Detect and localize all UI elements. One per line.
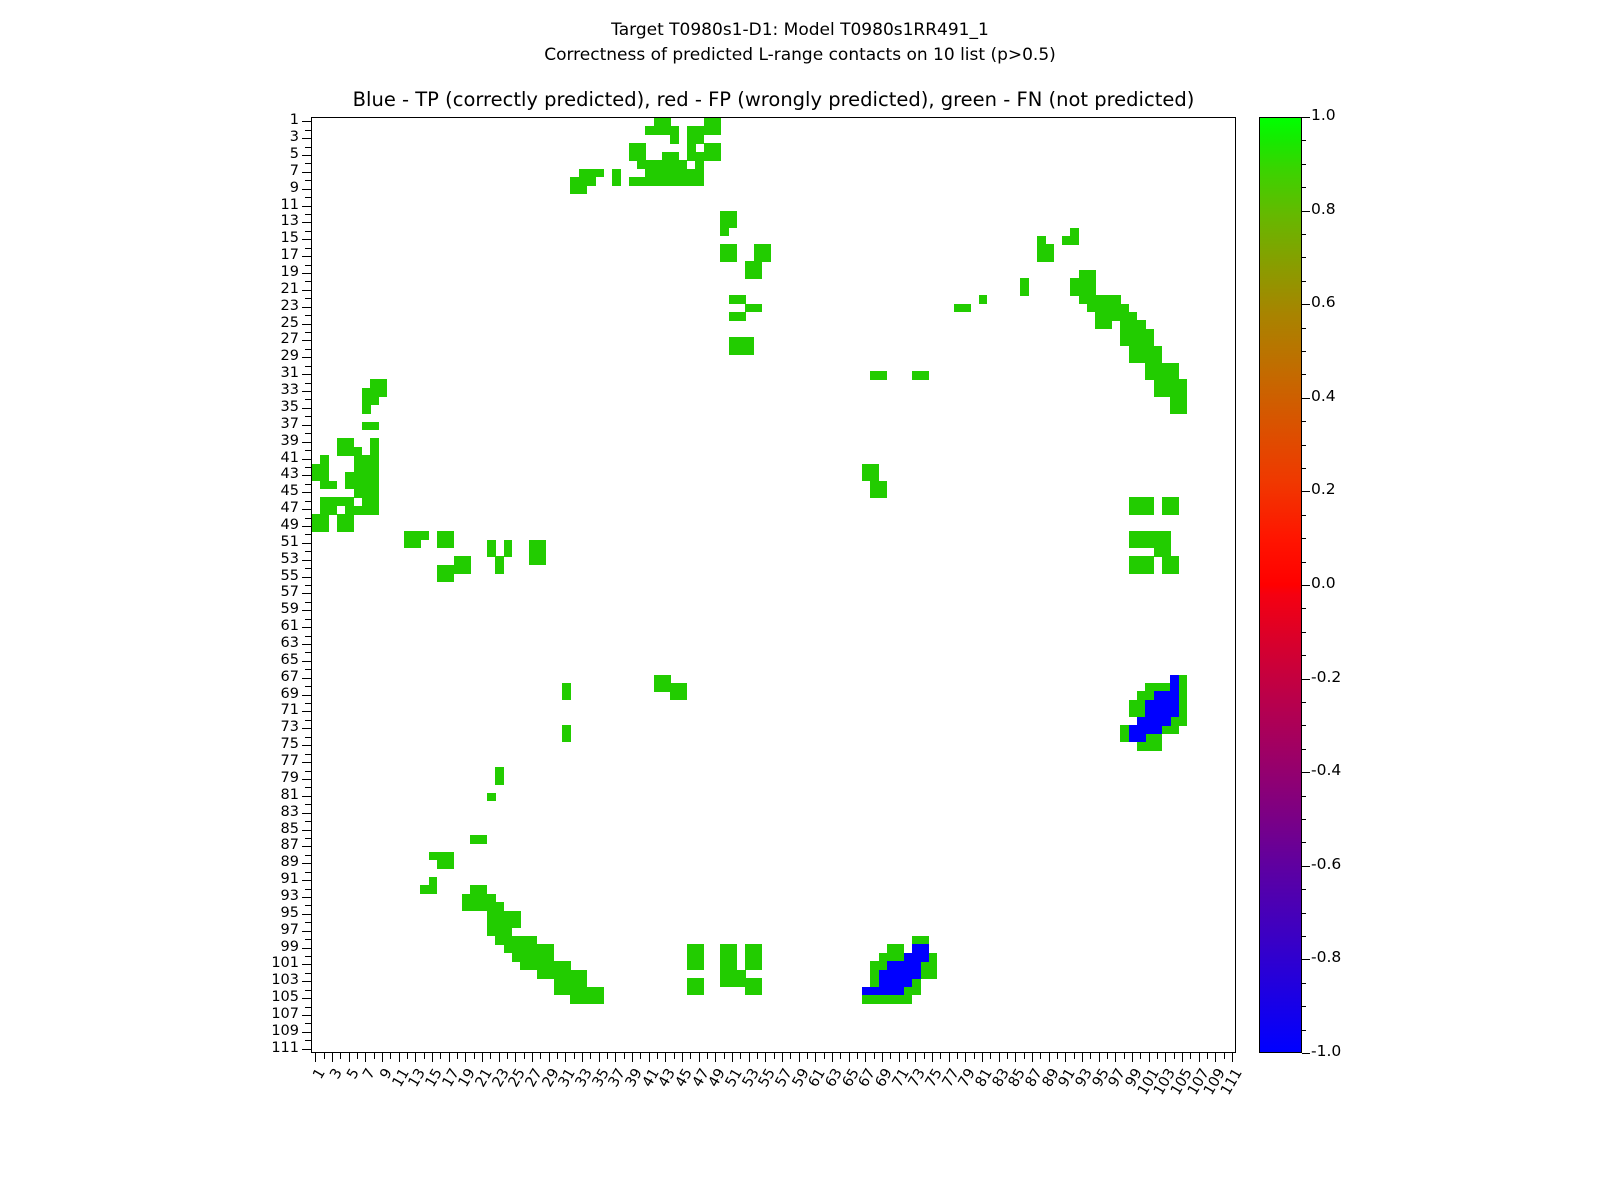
- contact-cell-fn: [412, 540, 421, 549]
- y-tick: [305, 180, 311, 181]
- contact-cell-fn: [879, 371, 888, 380]
- contact-cell-fn: [929, 953, 938, 962]
- x-tick: [682, 1053, 683, 1062]
- x-tick: [907, 1053, 908, 1059]
- y-tick: [302, 880, 311, 881]
- contact-cell-fn: [445, 860, 454, 869]
- colorbar-tick-label: -0.8: [1311, 950, 1341, 965]
- x-tick: [499, 1053, 500, 1062]
- y-tick-label: 19: [281, 265, 299, 279]
- x-tick: [715, 1053, 716, 1062]
- x-tick: [482, 1053, 483, 1062]
- colorbar-minor-tick: [1302, 749, 1306, 750]
- colorbar-minor-tick: [1302, 538, 1306, 539]
- contact-cell-fn: [370, 481, 379, 490]
- contact-cell-fn: [562, 734, 571, 743]
- y-tick: [302, 509, 311, 510]
- y-tick-label: 33: [281, 383, 299, 397]
- y-tick: [305, 298, 311, 299]
- y-tick: [302, 711, 311, 712]
- contact-cell-fn: [870, 995, 879, 1004]
- contact-cell-fn: [479, 835, 488, 844]
- y-tick-label: 47: [281, 501, 299, 515]
- contact-cell-fn: [329, 497, 338, 506]
- y-tick: [305, 686, 311, 687]
- x-tick: [1024, 1053, 1025, 1059]
- colorbar-minor-tick: [1302, 1006, 1306, 1007]
- colorbar-minor-tick: [1302, 702, 1306, 703]
- y-tick-label: 53: [281, 552, 299, 566]
- contact-map-plot-area[interactable]: [311, 117, 1236, 1053]
- colorbar-minor-tick: [1302, 234, 1306, 235]
- contact-cell-fn: [670, 177, 679, 186]
- y-tick: [302, 610, 311, 611]
- y-tick-label: 95: [281, 906, 299, 920]
- contact-cell-fn: [1020, 278, 1029, 287]
- y-tick: [305, 619, 311, 620]
- x-tick: [1065, 1053, 1066, 1062]
- x-tick: [507, 1053, 508, 1059]
- colorbar-tick-label: 1.0: [1311, 108, 1336, 123]
- y-tick: [305, 737, 311, 738]
- x-tick: [865, 1053, 866, 1062]
- y-tick: [305, 484, 311, 485]
- y-tick: [305, 197, 311, 198]
- x-tick: [524, 1053, 525, 1059]
- y-tick: [302, 425, 311, 426]
- contact-cell-fn: [670, 135, 679, 144]
- y-tick: [302, 206, 311, 207]
- y-tick: [302, 762, 311, 763]
- y-tick: [305, 771, 311, 772]
- y-tick-label: 25: [281, 316, 299, 330]
- y-tick: [305, 636, 311, 637]
- contact-cell-fn: [362, 405, 371, 414]
- colorbar-tick-label: 0.0: [1311, 576, 1336, 591]
- colorbar-minor-tick: [1302, 655, 1306, 656]
- x-tick: [1132, 1053, 1133, 1062]
- x-tick: [732, 1053, 733, 1062]
- x-tick: [1190, 1053, 1191, 1059]
- colorbar-minor-tick: [1302, 164, 1306, 165]
- colorbar-minor-tick: [1302, 515, 1306, 516]
- contact-cell-fn: [1104, 320, 1113, 329]
- contact-cell-fn: [579, 185, 588, 194]
- contact-cell-fn: [1170, 565, 1179, 574]
- contact-cell-fn: [729, 219, 738, 228]
- contact-cell-fn: [420, 531, 429, 540]
- x-tick: [1007, 1053, 1008, 1059]
- x-tick: [1215, 1053, 1216, 1062]
- y-tick-label: 91: [281, 872, 299, 886]
- y-tick: [305, 467, 311, 468]
- y-tick: [302, 830, 311, 831]
- y-tick: [305, 163, 311, 164]
- colorbar-tick-label: -1.0: [1311, 1044, 1341, 1059]
- x-tick: [440, 1053, 441, 1059]
- y-tick-label: 7: [290, 164, 299, 178]
- contact-cell-fn: [737, 978, 746, 987]
- x-tick: [1032, 1053, 1033, 1062]
- contact-cell-fn: [637, 177, 646, 186]
- y-tick-label: 23: [281, 299, 299, 313]
- x-tick: [774, 1053, 775, 1059]
- contact-cell-fn: [962, 304, 971, 313]
- x-tick: [624, 1053, 625, 1059]
- x-tick: [565, 1053, 566, 1062]
- contact-cell-fn: [470, 902, 479, 911]
- contact-cell-fn: [687, 135, 696, 144]
- x-tick: [740, 1053, 741, 1059]
- y-tick-label: 93: [281, 889, 299, 903]
- x-tick: [1140, 1053, 1141, 1059]
- y-tick: [302, 863, 311, 864]
- x-tick: [315, 1053, 316, 1062]
- y-tick: [305, 231, 311, 232]
- y-tick: [302, 340, 311, 341]
- colorbar-minor-tick: [1302, 187, 1306, 188]
- contact-cell-tp: [912, 970, 921, 979]
- contact-cell-fn: [1145, 565, 1154, 574]
- colorbar-tick-label: 0.8: [1311, 202, 1336, 217]
- contact-cell-fn: [637, 152, 646, 161]
- contact-cell-fn: [470, 835, 479, 844]
- x-tick: [807, 1053, 808, 1059]
- contact-cell-fn: [662, 683, 671, 692]
- colorbar-minor-tick: [1302, 351, 1306, 352]
- x-tick: [1165, 1053, 1166, 1062]
- x-tick: [824, 1053, 825, 1059]
- contact-cell-fn: [1179, 405, 1188, 414]
- y-tick: [302, 728, 311, 729]
- x-tick: [832, 1053, 833, 1062]
- contact-map-figure: Target T0980s1-D1: Model T0980s1RR491_1 …: [0, 0, 1600, 1200]
- contact-cell-fn: [345, 523, 354, 532]
- colorbar-minor-tick: [1302, 819, 1306, 820]
- colorbar-minor-tick: [1302, 632, 1306, 633]
- x-tick: [532, 1053, 533, 1062]
- y-tick: [305, 652, 311, 653]
- y-tick-label: 31: [281, 366, 299, 380]
- colorbar-tick: [1302, 959, 1310, 960]
- x-tick: [1074, 1053, 1075, 1059]
- y-tick: [305, 973, 311, 974]
- y-tick: [305, 754, 311, 755]
- x-tick: [349, 1053, 350, 1062]
- colorbar-tick: [1302, 585, 1310, 586]
- contact-cell-fn: [737, 312, 746, 321]
- contact-cell-fn: [904, 995, 913, 1004]
- colorbar-tick: [1302, 211, 1310, 212]
- y-tick: [302, 391, 311, 392]
- contact-cell-tp: [1137, 734, 1146, 743]
- y-tick-label: 27: [281, 332, 299, 346]
- contact-cell-fn: [370, 422, 379, 431]
- x-tick: [1232, 1053, 1233, 1062]
- y-tick: [305, 1007, 311, 1008]
- x-tick: [1099, 1053, 1100, 1062]
- contact-cell-fn: [512, 919, 521, 928]
- colorbar-tick-label: -0.2: [1311, 670, 1341, 685]
- contact-cell-fn: [712, 152, 721, 161]
- x-tick: [882, 1053, 883, 1062]
- colorbar-minor-tick: [1302, 257, 1306, 258]
- y-tick: [302, 1015, 311, 1016]
- y-tick: [302, 155, 311, 156]
- contact-cell-fn: [929, 970, 938, 979]
- y-tick-label: 41: [281, 451, 299, 465]
- x-tick: [757, 1053, 758, 1059]
- x-tick: [1207, 1053, 1208, 1059]
- y-tick: [305, 315, 311, 316]
- contact-cell-fn: [1170, 506, 1179, 515]
- contact-cell-fn: [695, 177, 704, 186]
- x-tick: [782, 1053, 783, 1062]
- contact-cell-fn: [679, 691, 688, 700]
- y-tick: [302, 1049, 311, 1050]
- y-tick: [305, 787, 311, 788]
- contact-cell-fn: [587, 177, 596, 186]
- x-tick: [657, 1053, 658, 1059]
- colorbar-minor-tick: [1302, 889, 1306, 890]
- x-tick: [582, 1053, 583, 1062]
- y-tick: [302, 644, 311, 645]
- x-tick: [490, 1053, 491, 1059]
- y-tick: [305, 585, 311, 586]
- y-tick-label: 35: [281, 400, 299, 414]
- x-tick: [1124, 1053, 1125, 1059]
- colorbar-minor-tick: [1302, 140, 1306, 141]
- y-tick-label: 59: [281, 602, 299, 616]
- y-tick: [302, 931, 311, 932]
- colorbar-tick-label: 0.2: [1311, 482, 1336, 497]
- x-tick: [424, 1053, 425, 1059]
- y-tick: [305, 147, 311, 148]
- contact-map-cells: [312, 118, 1235, 1052]
- x-tick: [924, 1053, 925, 1059]
- x-tick: [407, 1053, 408, 1059]
- x-tick: [1149, 1053, 1150, 1062]
- x-tick: [699, 1053, 700, 1062]
- y-tick-label: 3: [290, 130, 299, 144]
- y-tick: [302, 121, 311, 122]
- y-tick: [302, 964, 311, 965]
- y-tick: [302, 138, 311, 139]
- y-tick: [302, 408, 311, 409]
- contact-cell-fn: [1020, 287, 1029, 296]
- contact-cell-fn: [662, 126, 671, 135]
- y-tick-label: 61: [281, 619, 299, 633]
- x-tick: [1015, 1053, 1016, 1062]
- x-tick: [549, 1053, 550, 1062]
- x-tick: [1057, 1053, 1058, 1059]
- x-tick: [332, 1053, 333, 1062]
- contact-cell-fn: [379, 388, 388, 397]
- y-tick: [305, 602, 311, 603]
- y-tick: [302, 846, 311, 847]
- y-tick-label: 49: [281, 518, 299, 532]
- y-tick-label: 85: [281, 822, 299, 836]
- x-tick: [432, 1053, 433, 1062]
- x-tick: [457, 1053, 458, 1059]
- y-tick: [302, 307, 311, 308]
- contact-cell-fn: [1179, 683, 1188, 692]
- contact-cell-fn: [429, 885, 438, 894]
- contact-cell-fn: [370, 506, 379, 515]
- y-tick: [302, 475, 311, 476]
- y-tick-label: 87: [281, 838, 299, 852]
- y-tick: [302, 813, 311, 814]
- x-tick: [1115, 1053, 1116, 1062]
- contact-cell-fn: [754, 961, 763, 970]
- contact-cell-fn: [320, 523, 329, 532]
- colorbar-minor-tick: [1302, 374, 1306, 375]
- contact-cell-fn: [345, 447, 354, 456]
- y-tick: [305, 416, 311, 417]
- y-tick-label: 39: [281, 434, 299, 448]
- x-tick: [1049, 1053, 1050, 1062]
- contact-cell-fn: [1170, 725, 1179, 734]
- colorbar-tick: [1302, 491, 1310, 492]
- y-tick-label: 79: [281, 771, 299, 785]
- y-tick-label: 111: [271, 1041, 299, 1055]
- y-tick: [302, 981, 311, 982]
- colorbar-minor-tick: [1302, 796, 1306, 797]
- y-tick: [305, 399, 311, 400]
- contact-cell-fn: [595, 995, 604, 1004]
- y-tick-label: 101: [271, 956, 299, 970]
- contact-cell-fn: [1145, 329, 1154, 338]
- x-tick: [724, 1053, 725, 1059]
- y-tick: [305, 922, 311, 923]
- x-tick: [1182, 1053, 1183, 1062]
- x-tick: [815, 1053, 816, 1062]
- x-tick: [899, 1053, 900, 1062]
- contact-cell-fn: [762, 253, 771, 262]
- contact-cell-fn: [879, 489, 888, 498]
- y-tick: [305, 821, 311, 822]
- x-tick: [799, 1053, 800, 1062]
- y-tick: [305, 214, 311, 215]
- x-tick: [940, 1053, 941, 1059]
- contact-cell-fn: [920, 371, 929, 380]
- y-tick: [302, 492, 311, 493]
- y-tick: [302, 593, 311, 594]
- contact-cell-fn: [979, 295, 988, 304]
- y-tick-label: 43: [281, 467, 299, 481]
- colorbar-minor-tick: [1302, 281, 1306, 282]
- y-tick-label: 107: [271, 1007, 299, 1021]
- colorbar-minor-tick: [1302, 608, 1306, 609]
- colorbar-tick: [1302, 1053, 1310, 1054]
- contact-cell-fn: [1154, 742, 1163, 751]
- y-tick: [305, 1023, 311, 1024]
- y-tick: [305, 518, 311, 519]
- y-tick: [305, 450, 311, 451]
- colorbar-tick: [1302, 304, 1310, 305]
- x-tick: [857, 1053, 858, 1059]
- contact-cell-fn: [495, 565, 504, 574]
- y-tick-label: 29: [281, 349, 299, 363]
- y-tick-label: 37: [281, 417, 299, 431]
- contact-cell-fn: [595, 169, 604, 178]
- contact-cell-fn: [612, 177, 621, 186]
- x-tick: [415, 1053, 416, 1062]
- y-tick: [305, 265, 311, 266]
- y-tick: [305, 568, 311, 569]
- x-tick: [590, 1053, 591, 1059]
- x-tick: [557, 1053, 558, 1059]
- y-tick: [305, 433, 311, 434]
- colorbar-tick-label: 0.4: [1311, 389, 1336, 404]
- contact-cell-fn: [537, 556, 546, 565]
- contact-cell-fn: [729, 253, 738, 262]
- x-tick: [324, 1053, 325, 1059]
- contact-cell-fn: [695, 987, 704, 996]
- y-tick: [302, 374, 311, 375]
- y-tick-label: 51: [281, 535, 299, 549]
- y-tick-label: 103: [271, 973, 299, 987]
- colorbar-minor-tick: [1302, 468, 1306, 469]
- contact-cell-tp: [920, 953, 929, 962]
- y-tick: [305, 838, 311, 839]
- x-tick: [1090, 1053, 1091, 1059]
- x-tick: [607, 1053, 608, 1059]
- y-tick: [305, 939, 311, 940]
- y-tick-label: 83: [281, 805, 299, 819]
- x-tick: [1224, 1053, 1225, 1059]
- x-tick: [1157, 1053, 1158, 1059]
- y-tick: [305, 248, 311, 249]
- y-tick: [302, 1032, 311, 1033]
- y-tick: [305, 669, 311, 670]
- x-tick: [640, 1053, 641, 1059]
- x-tick: [374, 1053, 375, 1059]
- y-tick: [302, 442, 311, 443]
- y-tick-label: 17: [281, 248, 299, 262]
- y-tick: [302, 796, 311, 797]
- x-tick: [540, 1053, 541, 1059]
- x-tick: [949, 1053, 950, 1062]
- contact-cell-fn: [720, 228, 729, 237]
- y-tick: [305, 1040, 311, 1041]
- y-tick: [302, 627, 311, 628]
- y-tick: [302, 577, 311, 578]
- x-tick: [890, 1053, 891, 1059]
- y-tick-label: 99: [281, 940, 299, 954]
- x-tick: [957, 1053, 958, 1059]
- y-tick-label: 15: [281, 231, 299, 245]
- y-tick: [302, 661, 311, 662]
- x-tick: [915, 1053, 916, 1062]
- y-tick-label: 71: [281, 703, 299, 717]
- contact-cell-fn: [712, 126, 721, 135]
- contact-cell-fn: [445, 540, 454, 549]
- y-tick: [302, 459, 311, 460]
- colorbar-tick-label: 0.6: [1311, 295, 1336, 310]
- x-tick: [874, 1053, 875, 1059]
- y-tick-label: 81: [281, 788, 299, 802]
- figure-suptitle: Target T0980s1-D1: Model T0980s1RR491_1 …: [0, 18, 1600, 68]
- x-tick: [990, 1053, 991, 1059]
- x-tick: [707, 1053, 708, 1059]
- contact-cell-fn: [754, 987, 763, 996]
- y-tick-label: 57: [281, 585, 299, 599]
- contact-cell-tp: [1162, 717, 1171, 726]
- x-tick: [840, 1053, 841, 1059]
- x-tick: [932, 1053, 933, 1062]
- y-tick-label: 1: [290, 113, 299, 127]
